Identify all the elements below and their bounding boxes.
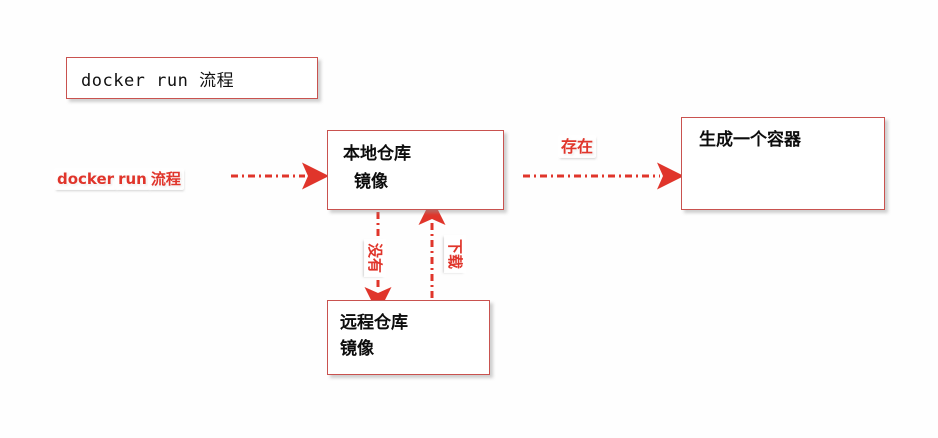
edge-label-download-text: 下载 [445, 236, 465, 272]
edge-label-command-seg1: docker [55, 169, 116, 189]
edge-label-download: 下载 [445, 236, 466, 272]
node-remote-repository: 远程仓库 镜像 [327, 300, 490, 375]
title-text: docker run 流程 [67, 66, 234, 91]
edge-label-command-seg2: run [116, 169, 149, 189]
node-local-repository-line2: 镜像 [328, 168, 503, 196]
node-container-result-text: 生成一个容器 [682, 125, 884, 150]
node-local-repository-line1: 本地仓库 [328, 140, 503, 168]
title-box: docker run 流程 [66, 57, 318, 99]
node-remote-repository-line2: 镜像 [328, 337, 489, 363]
edge-label-not-found-text: 没有 [365, 240, 385, 276]
diagram-canvas: 生成一个容器 --> docker run 流程 dockerrun流程 本地仓… [0, 0, 938, 438]
node-local-repository: 本地仓库 镜像 [327, 130, 504, 210]
edge-label-exists: 存在 [559, 133, 595, 157]
edge-label-exists-text: 存在 [559, 136, 595, 157]
edge-label-command-seg3: 流程 [149, 169, 183, 189]
node-container-result: 生成一个容器 [681, 117, 885, 210]
edge-label-command: dockerrun流程 [55, 168, 183, 189]
edge-label-not-found: 没有 [365, 240, 386, 276]
node-remote-repository-line1: 远程仓库 [328, 311, 489, 337]
